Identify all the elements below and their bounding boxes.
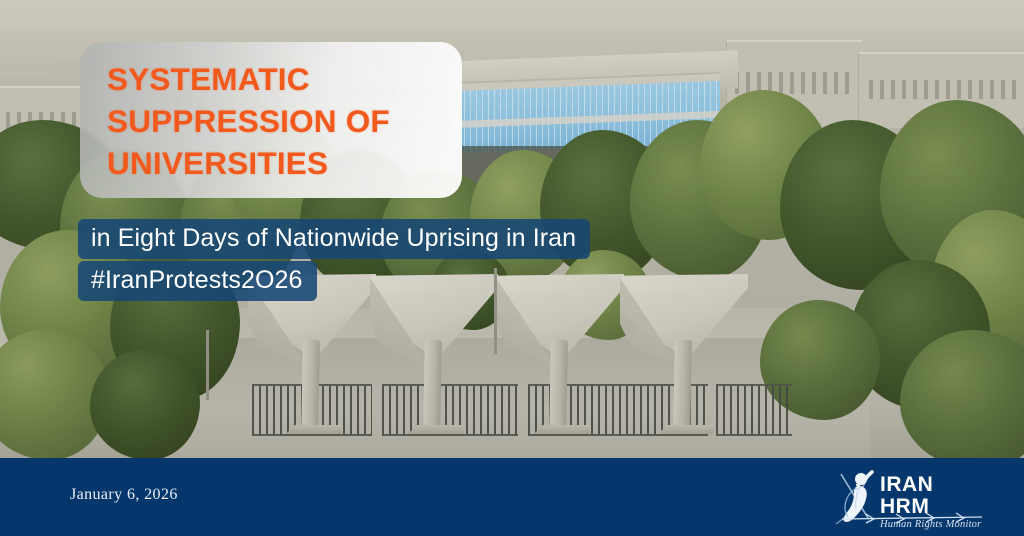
subtitle-line-1: in Eight Days of Nationwide Uprising in … (78, 219, 590, 259)
poster-canvas: SYSTEMATIC SUPPRESSION OF UNIVERSITIES i… (0, 0, 1024, 536)
subtitle-banner: in Eight Days of Nationwide Uprising in … (78, 219, 590, 301)
headline-line-1: SYSTEMATIC (107, 58, 487, 100)
iran-hrm-logo[interactable]: IRAN HRM Human Rights Monitor (834, 466, 984, 528)
headline-line-3: UNIVERSITIES (107, 142, 487, 184)
subtitle-line-2: #IranProtests2O26 (78, 261, 317, 301)
footer-bar: January 6, 2026 IRAN HRM Human Rights Mo… (0, 458, 1024, 536)
publication-date: January 6, 2026 (70, 486, 178, 504)
page-title: SYSTEMATIC SUPPRESSION OF UNIVERSITIES (107, 58, 487, 184)
barbed-wire-icon (840, 510, 984, 526)
headline-line-2: SUPPRESSION OF (107, 100, 487, 142)
